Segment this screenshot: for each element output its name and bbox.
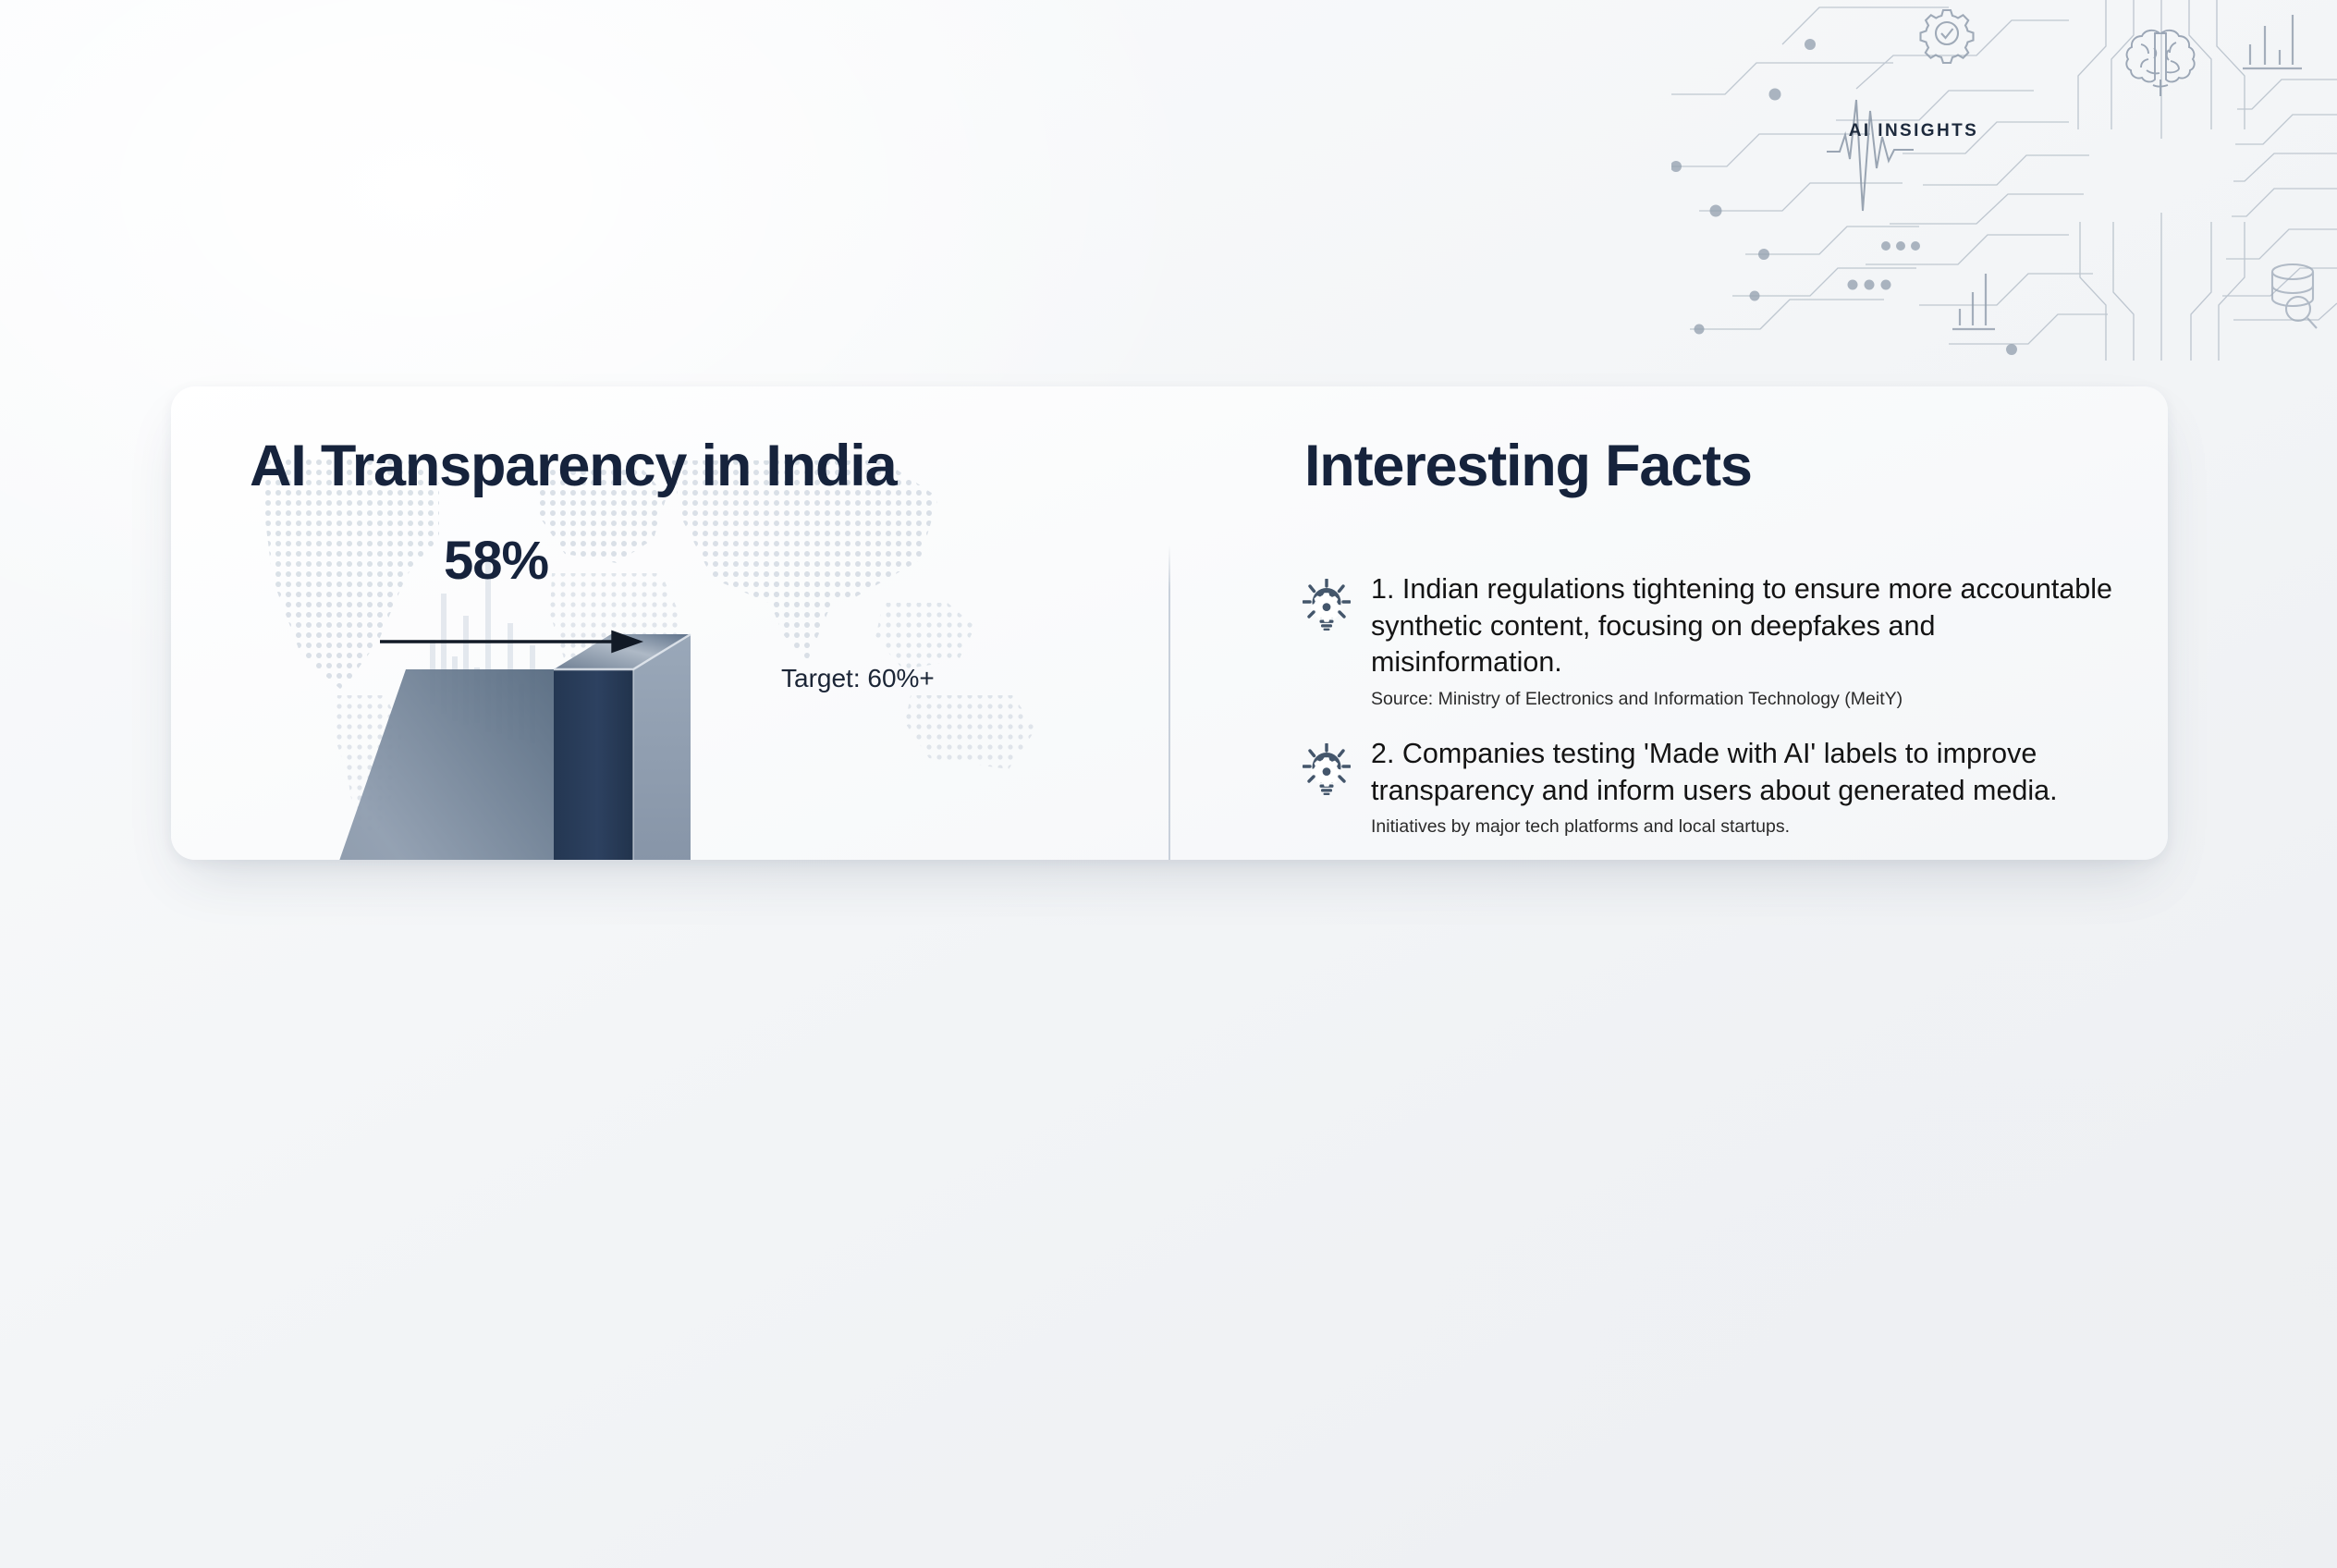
list-item: 2. Companies testing 'Made with AI' labe…	[1303, 736, 2125, 838]
fact-text: 2. Companies testing 'Made with AI' labe…	[1371, 736, 2125, 809]
list-item: 1. Indian regulations tightening to ensu…	[1303, 571, 2125, 710]
lightbulb-gear-icon	[1303, 579, 1351, 631]
page-title: AI Transparency in India	[250, 433, 896, 499]
facts-list: 1. Indian regulations tightening to ensu…	[1303, 571, 2125, 860]
target-label: Target: 60%+	[781, 664, 935, 693]
fact-source: Source: Ministry of Electronics and Info…	[1371, 689, 2125, 710]
ai-insights-decoration	[1671, 0, 2337, 361]
facts-title: Interesting Facts	[1304, 433, 1752, 499]
lightbulb-gear-icon	[1303, 743, 1351, 795]
bar-value-label: 58%	[444, 530, 548, 592]
fact-source: Initiatives by major tech platforms and …	[1371, 816, 2125, 838]
facts-panel: Interesting Facts	[1169, 386, 2168, 860]
fact-text: 1. Indian regulations tightening to ensu…	[1371, 571, 2125, 681]
infographic-card: AI Transparency in India 58% Target: 60%…	[171, 386, 2168, 860]
ai-insights-label: AI INSIGHTS	[1671, 121, 2337, 141]
chart-panel: AI Transparency in India 58% Target: 60%…	[171, 386, 1169, 860]
